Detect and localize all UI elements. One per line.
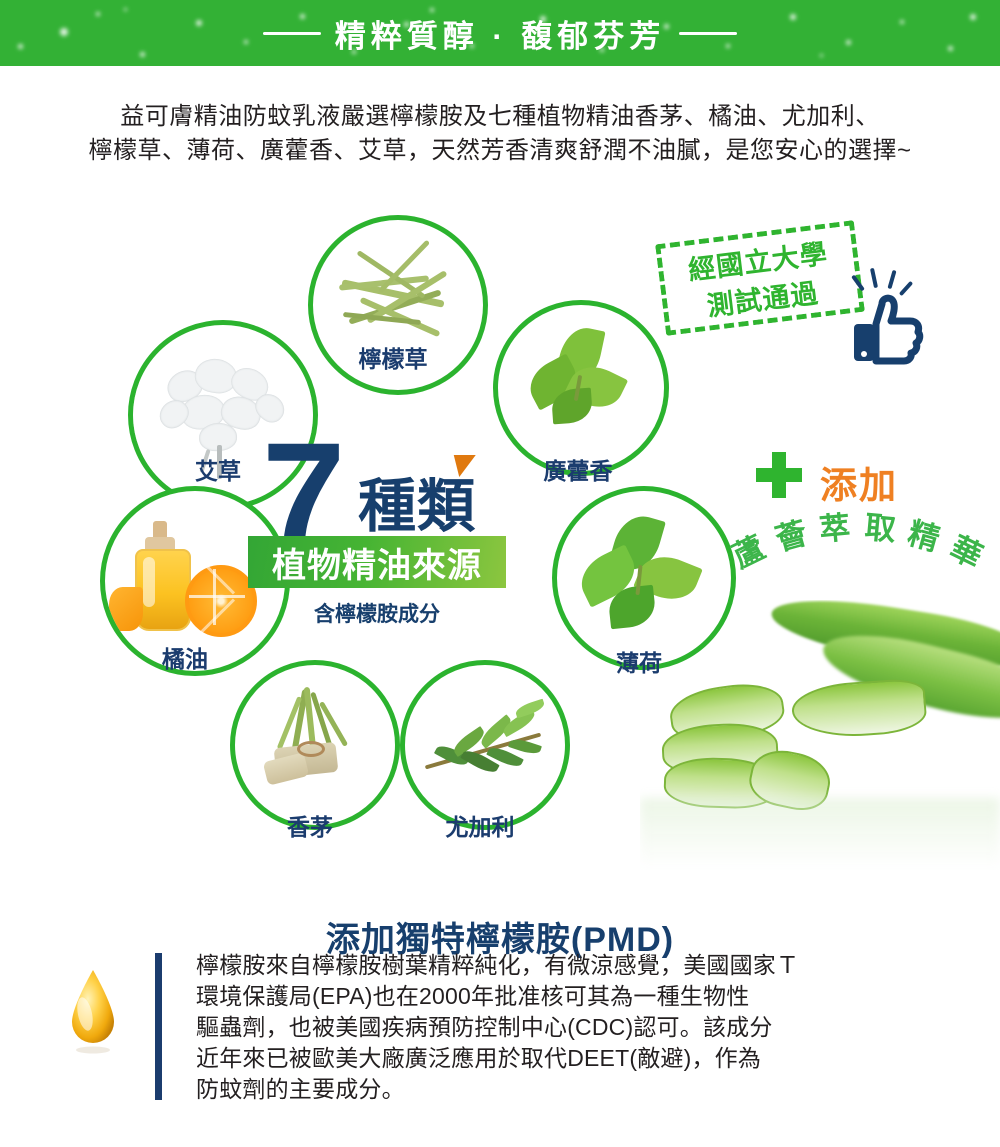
intro-text: 益可膚精油防蚊乳液嚴選檸檬胺及七種植物精油香茅、橘油、尤加利、 檸檬草、薄荷、廣… bbox=[50, 100, 950, 168]
ingredient-circle-patchouli bbox=[493, 300, 669, 476]
ingredient-circle-citronella bbox=[230, 660, 400, 830]
banner-rule-right bbox=[679, 32, 737, 35]
citronella-icon bbox=[235, 665, 395, 825]
oil-droplet-icon bbox=[62, 968, 124, 1054]
aloe-photo bbox=[640, 600, 1000, 870]
aloe-arc-char: 華 bbox=[943, 523, 991, 577]
aloe-arc-char: 取 bbox=[863, 502, 898, 550]
bubble-label: 高達 bbox=[428, 400, 496, 448]
pmd-body-line: 近年來已被歐美大廠廣泛應用於取代DEET(敵避)，作為 bbox=[196, 1043, 956, 1074]
thumbs-up-icon bbox=[852, 268, 926, 364]
pmd-body: 檸檬胺來自檸檬胺樹葉精粹純化，有微涼感覺，美國國家Ｔ 環境保護局(EPA)也在2… bbox=[196, 950, 956, 1105]
pmd-body-line: 防蚊劑的主要成分。 bbox=[196, 1074, 956, 1105]
patchouli-icon bbox=[498, 305, 664, 471]
sub-note: 含檸檬胺成分 bbox=[248, 598, 506, 628]
plus-icon bbox=[756, 452, 802, 498]
top-banner: 精粹質醇 · 馥郁芬芳 bbox=[0, 0, 1000, 66]
aloe-arc-char: 萃 bbox=[817, 502, 852, 550]
high-up-to-bubble: 高達 bbox=[413, 388, 511, 460]
aloe-arc-text: 蘆薈萃取精華 bbox=[716, 500, 1000, 610]
source-bar: 植物精油來源 bbox=[248, 536, 506, 588]
pmd-body-line: 檸檬胺來自檸檬胺樹葉精粹純化，有微涼感覺，美國國家Ｔ bbox=[196, 950, 956, 981]
banner-title: 精粹質醇 · 馥郁芬芳 bbox=[335, 11, 666, 56]
thumbs-up-glyph bbox=[852, 294, 926, 366]
aloe-arc-char: 精 bbox=[904, 508, 946, 560]
source-bar-label: 植物精油來源 bbox=[272, 538, 482, 587]
aloe-arc-char: 蘆 bbox=[724, 523, 772, 577]
aloe-arc-char: 薈 bbox=[769, 508, 811, 560]
intro-line-1: 益可膚精油防蚊乳液嚴選檸檬胺及七種植物精油香茅、橘油、尤加利、 bbox=[50, 100, 950, 134]
kind-label: 種類 bbox=[358, 478, 476, 536]
ingredient-label-eucalyptus: 尤加利 bbox=[390, 808, 570, 842]
eucalyptus-icon bbox=[405, 665, 565, 825]
ingredient-label-citronella: 香茅 bbox=[220, 808, 400, 842]
banner-rule-left bbox=[263, 32, 321, 35]
pmd-left-rule bbox=[155, 953, 162, 1100]
certification-stamp: 經國立大學 測試通過 bbox=[655, 220, 865, 336]
ingredient-label-lemongrass: 檸檬草 bbox=[303, 340, 483, 374]
ingredient-label-patchouli: 廣藿香 bbox=[488, 452, 668, 486]
intro-line-2: 檸檬草、薄荷、廣藿香、艾草，天然芳香清爽舒潤不油膩，是您安心的選擇~ bbox=[50, 134, 950, 168]
pmd-body-line: 驅蟲劑，也被美國疾病預防控制中心(CDC)認可。該成分 bbox=[196, 1012, 956, 1043]
ingredient-circle-eucalyptus bbox=[400, 660, 570, 830]
pmd-body-line: 環境保護局(EPA)也在2000年批准核可其為一種生物性 bbox=[196, 981, 956, 1012]
